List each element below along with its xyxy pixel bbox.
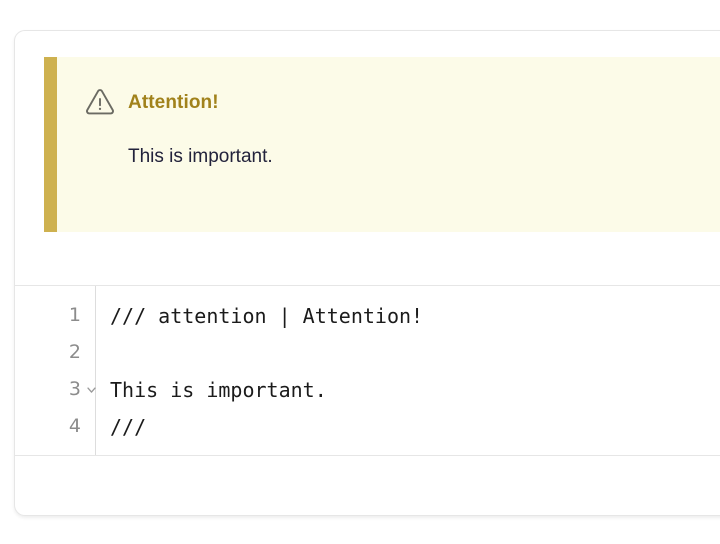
code-line-text[interactable]: /// [81,417,720,437]
line-number: 3 [69,380,81,399]
line-number: 1 [69,306,81,325]
code-line-row[interactable]: 4 /// [15,408,720,445]
callout-content: Attention! This is important. [57,57,720,232]
line-gutter[interactable]: 4 [15,408,81,445]
code-pane[interactable]: 1 /// attention | Attention! 2 3 [15,286,720,455]
code-line-text[interactable]: /// attention | Attention! [81,306,720,326]
code-line-row[interactable]: 1 /// attention | Attention! [15,297,720,334]
callout-title: Attention! [128,93,219,112]
code-footer-divider [15,455,720,456]
line-gutter[interactable]: 3 [15,371,81,408]
page-root: Attention! This is important. 1 /// atte… [0,0,720,544]
chevron-down-icon[interactable] [85,383,98,396]
line-gutter[interactable]: 2 [15,334,81,371]
line-gutter[interactable]: 1 [15,297,81,334]
attention-callout: Attention! This is important. [44,57,720,232]
line-number: 4 [69,417,81,436]
callout-header: Attention! [85,87,720,117]
preview-pane: Attention! This is important. [15,31,720,285]
warning-triangle-icon [85,88,115,116]
preview-card: Attention! This is important. 1 /// atte… [14,30,720,516]
code-line-row[interactable]: 3 This is important. [15,371,720,408]
code-line-text[interactable]: This is important. [81,380,720,400]
callout-body-text: This is important. [128,144,720,170]
code-lines: 1 /// attention | Attention! 2 3 [15,297,720,445]
code-line-row[interactable]: 2 [15,334,720,371]
line-number: 2 [69,343,81,362]
